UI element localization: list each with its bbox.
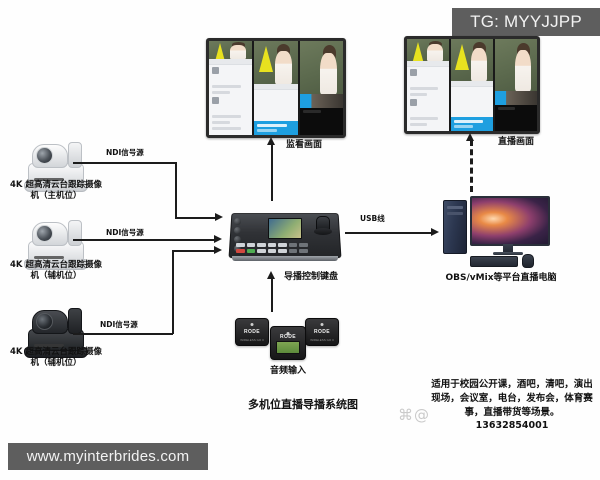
switcher-button-grid[interactable] [236, 243, 308, 253]
live-pane-1 [407, 39, 449, 131]
pc-label: OBS/vMix等平台直播电脑 [426, 273, 576, 284]
presenter-figure [427, 44, 443, 61]
preview-pane-3-strip [300, 94, 343, 108]
switcher-foot [232, 256, 338, 261]
cam2-link-h [73, 239, 215, 241]
switcher-button[interactable] [299, 249, 308, 253]
presenter-figure [515, 50, 531, 90]
switcher-button[interactable] [268, 243, 277, 247]
cam3-link-v [172, 250, 174, 334]
switcher-button-program[interactable] [236, 249, 245, 253]
camera-aux-1-label: 4K 超高清云台跟踪摄像机（辅机位） [10, 260, 102, 281]
audio-to-switcher-line [271, 278, 273, 312]
ndi-label-2: NDI信号源 [106, 228, 144, 237]
pc-keyboard[interactable] [470, 256, 518, 267]
preview-monitor-label: 监看画面 [286, 140, 322, 151]
preview-monitor [206, 38, 346, 138]
promo-bar [257, 124, 287, 127]
knob[interactable] [234, 227, 241, 234]
live-pane-3 [495, 39, 537, 131]
switcher-joystick[interactable] [316, 216, 330, 232]
display-stand [503, 244, 513, 252]
list-row [410, 123, 427, 126]
phone-list [451, 87, 493, 117]
mic-led [251, 323, 254, 326]
pc-to-live-dashed-line [470, 140, 473, 192]
knob[interactable] [234, 236, 241, 243]
camera-arm [68, 142, 82, 168]
mic-led [321, 323, 324, 326]
pc-to-live-arrow [466, 133, 474, 141]
switcher-button[interactable] [268, 249, 277, 253]
triangle-icon [455, 44, 469, 70]
cam1-arrow [215, 213, 223, 221]
phone-list [495, 105, 537, 131]
presenter-figure [471, 48, 487, 81]
receiver-lcd-screen [276, 341, 301, 354]
pc-display-wallpaper [472, 198, 548, 244]
switcher-button[interactable] [299, 243, 308, 247]
phone-list [300, 108, 343, 135]
presenter-figure [275, 51, 291, 85]
cam1-link-h2 [175, 217, 217, 219]
cam3-link-h [73, 333, 173, 335]
site-watermark-logo: ⌘@ [398, 406, 430, 424]
diagram-title: 多机位直播导播系统图 [218, 398, 388, 412]
usb-label: USB线 [360, 214, 385, 223]
preview-pane-1-video [209, 41, 252, 59]
switcher-button[interactable] [278, 249, 287, 253]
website-watermark-banner: www.myinterbrides.com [8, 443, 208, 470]
live-pane-2-video [451, 39, 493, 81]
switcher-button[interactable] [289, 243, 298, 247]
cam1-link-v [175, 162, 177, 218]
list-thumb [410, 69, 417, 76]
telegram-watermark-text: TG: MYYJJPP [470, 12, 582, 32]
list-row [410, 117, 438, 120]
preview-monitor-screen [209, 41, 343, 135]
cam3-arrow [214, 246, 222, 254]
camera-aux-2-label: 4K 超高清云台跟踪摄像机（辅机位） [10, 347, 102, 368]
switcher-preview-screen [268, 218, 302, 239]
cam3-link-h2 [172, 250, 216, 252]
live-monitor-screen [407, 39, 537, 131]
preview-pane-2 [254, 41, 297, 135]
list-row [212, 127, 241, 130]
switcher-button[interactable] [278, 243, 287, 247]
telegram-watermark-banner: TG: MYYJJPP [452, 8, 600, 36]
live-monitor-label: 直播画面 [498, 137, 534, 148]
rode-mic-left: RODE WIRELESS GO II [235, 318, 269, 346]
promo-bar [257, 129, 276, 132]
preview-pane-2-ui [254, 84, 297, 135]
cam1-link-h [73, 162, 176, 164]
list-row [212, 85, 241, 88]
triangle-icon [259, 46, 273, 72]
camera-arm [68, 220, 82, 246]
preview-pane-3 [300, 41, 343, 135]
switcher-to-preview-line [271, 143, 273, 201]
rode-receiver: RODE [270, 326, 306, 360]
mic-model-label: WIRELESS GO II [236, 338, 268, 342]
live-pane-2-ui [451, 81, 493, 131]
list-thumb [410, 99, 417, 106]
list-thumb [212, 67, 219, 74]
audio-input-label: 音频输入 [248, 366, 328, 377]
list-thumb [212, 97, 219, 104]
list-row [212, 91, 230, 94]
switcher-button[interactable] [257, 243, 266, 247]
live-pane-1-video [407, 39, 449, 61]
presenter-figure [230, 45, 246, 59]
phone-list [209, 65, 252, 135]
mic-model-label: WIRELESS GO II [306, 338, 338, 342]
pc-display [470, 196, 550, 246]
camera-main-label: 4K 超高清云台跟踪摄像机（主机位） [10, 180, 102, 201]
preview-pane-3-video [300, 41, 343, 94]
website-watermark-text: www.myinterbrides.com [27, 448, 190, 465]
pc-tower-icon [443, 200, 467, 254]
presenter-figure [320, 53, 336, 94]
camera-arm [68, 308, 82, 334]
preview-pane-1 [209, 41, 252, 135]
promo-bar [454, 120, 483, 123]
ndi-label-1: NDI信号源 [106, 148, 144, 157]
pc-mouse[interactable] [522, 254, 534, 268]
preview-pane-2-video [254, 41, 297, 84]
camera-lens-icon [36, 147, 53, 164]
switcher-label: 导播控制键盘 [284, 272, 338, 283]
preview-pane-1-ui [209, 59, 252, 135]
switcher-button[interactable] [247, 243, 256, 247]
mic-brand-label: RODE [306, 329, 338, 335]
camera-lens-icon [36, 225, 53, 242]
list-row [212, 121, 230, 124]
video-switcher-console[interactable] [230, 212, 340, 258]
display-base [493, 252, 523, 255]
live-monitor [404, 36, 540, 134]
camera-slot [34, 256, 64, 259]
phone-list [254, 90, 297, 121]
promo-bar [454, 125, 473, 128]
live-pane-2 [451, 39, 493, 131]
usb-link-arrow [431, 228, 439, 236]
rode-mic-right: RODE WIRELESS GO II [305, 318, 339, 346]
camera-lens-icon [36, 313, 53, 330]
knob[interactable] [234, 218, 241, 225]
live-pane-1-ui [407, 61, 449, 131]
mic-brand-label: RODE [271, 334, 305, 340]
list-row [212, 115, 241, 118]
promo-description: 适用于校园公开课，酒吧，清吧，演出现场，会议室，电台，发布会，体育赛事，直播带货… [430, 378, 594, 433]
mic-brand-label: RODE [236, 329, 268, 335]
list-row [410, 87, 438, 90]
audio-to-switcher-arrow [267, 271, 275, 279]
switcher-button[interactable] [236, 243, 245, 247]
list-row [303, 110, 321, 113]
preview-pane-3-ui [300, 108, 343, 135]
phone-promo-card [254, 121, 297, 135]
cam2-arrow [214, 235, 222, 243]
list-row [498, 107, 515, 110]
switcher-button-preview[interactable] [247, 249, 256, 253]
live-pane-3-strip [495, 91, 537, 105]
live-pane-3-ui [495, 105, 537, 131]
switcher-to-preview-arrow [267, 137, 275, 145]
ndi-label-3: NDI信号源 [100, 320, 138, 329]
switcher-button[interactable] [289, 249, 298, 253]
live-pane-3-video [495, 39, 537, 91]
diagram-canvas: TG: MYYJJPP [0, 0, 600, 480]
list-row [410, 93, 427, 96]
usb-link-line [345, 232, 433, 234]
switcher-button[interactable] [257, 249, 266, 253]
phone-promo-card [451, 117, 493, 131]
phone-list [407, 67, 449, 131]
